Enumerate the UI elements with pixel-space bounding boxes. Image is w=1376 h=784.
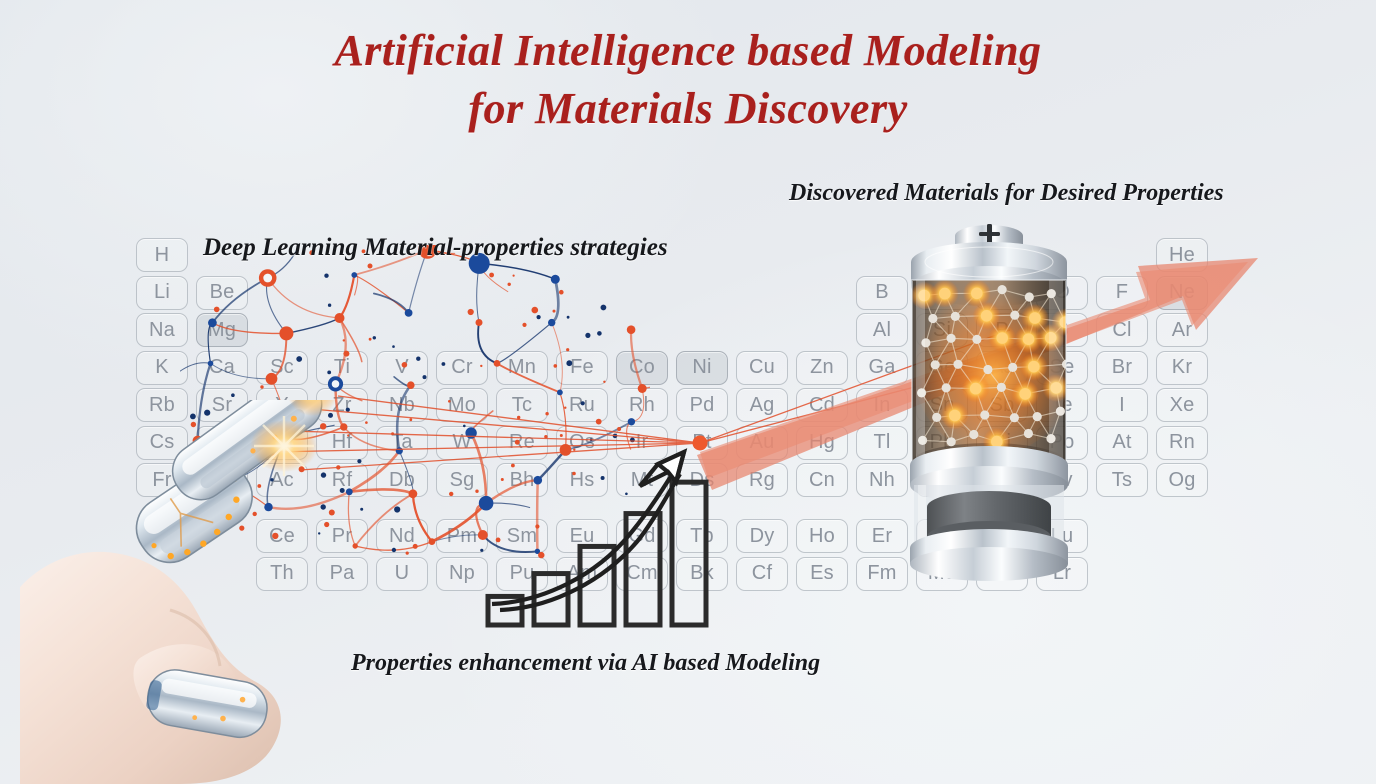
robotic-hand-graphic xyxy=(20,400,350,784)
bar-chart-graphic xyxy=(470,430,720,645)
lattice-node xyxy=(942,383,951,392)
lattice-node xyxy=(1010,413,1019,422)
lattice-node xyxy=(928,314,937,323)
lattice-node xyxy=(983,365,992,374)
lattice-node xyxy=(996,332,1008,344)
chart-bar xyxy=(672,482,706,625)
lattice-node xyxy=(970,383,982,395)
chart-bars xyxy=(488,482,706,625)
lattice-node xyxy=(997,383,1006,392)
lattice-node xyxy=(1008,363,1017,372)
lattice-node xyxy=(947,334,956,343)
lattice-node xyxy=(1028,361,1040,373)
lattice-node xyxy=(971,288,983,300)
lattice-node xyxy=(1019,388,1031,400)
lattice-node xyxy=(1029,312,1041,324)
page-title: Artificial Intelligence based Modeling f… xyxy=(0,22,1376,138)
battery-bottom-cap xyxy=(910,529,1068,581)
graphical-abstract: HHeLiBeBCNOFNeNaMgAlSiPSClArKCaScTiVCrMn… xyxy=(0,0,1376,784)
lattice-node xyxy=(972,335,981,344)
lattice-node xyxy=(947,437,956,446)
lattice-node xyxy=(1023,333,1035,345)
lattice-node xyxy=(998,285,1007,294)
lattice-node xyxy=(991,436,1003,448)
lattice-node xyxy=(939,288,951,300)
label-properties-enhancement: Properties enhancement via AI based Mode… xyxy=(351,650,820,677)
lattice-node xyxy=(932,413,941,422)
label-deep-learning: Deep Learning Material-properties strate… xyxy=(203,234,668,262)
label-discovered-materials: Discovered Materials for Desired Propert… xyxy=(789,180,1224,207)
lattice-node xyxy=(949,410,961,422)
lattice-node xyxy=(1024,429,1033,438)
lattice-node xyxy=(980,410,989,419)
lattice-node xyxy=(1025,292,1034,301)
lattice-node xyxy=(1010,311,1019,320)
lattice-node xyxy=(1033,412,1042,421)
battery-graphic xyxy=(886,222,1092,582)
lattice-node xyxy=(951,312,960,321)
lattice-node xyxy=(953,360,962,369)
lattice-node xyxy=(981,310,993,322)
lattice-node xyxy=(969,430,978,439)
lattice-node xyxy=(931,360,940,369)
